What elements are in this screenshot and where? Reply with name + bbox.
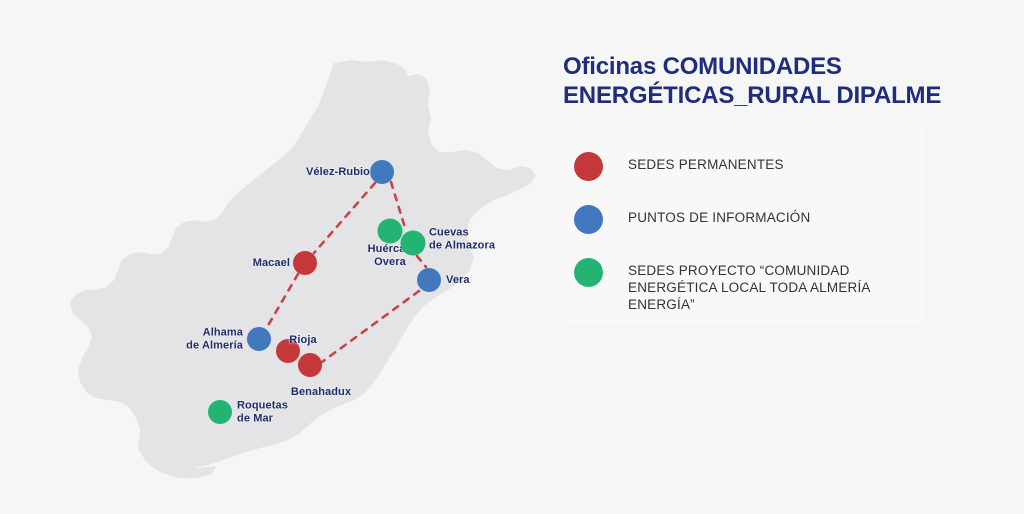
legend-panel: SEDES PERMANENTESPUNTOS DE INFORMACIÓNSE… (562, 128, 925, 325)
legend-item: PUNTOS DE INFORMACIÓN (562, 204, 925, 234)
legend-item-label: SEDES PROYECTO “COMUNIDAD ENERGÉTICA LOC… (628, 257, 871, 313)
map-marker-vera[interactable] (417, 268, 441, 292)
blue-dot-icon (574, 205, 603, 234)
map-label-macael: Macael (253, 257, 290, 270)
map-marker-cuevas-de-almazora[interactable] (401, 231, 426, 256)
map-label-alhama-de-almer-a: Alhama de Almería (186, 327, 243, 352)
map-marker-benahadux[interactable] (298, 353, 322, 377)
legend-item-label: SEDES PERMANENTES (628, 151, 784, 173)
red-dot-icon (574, 152, 603, 181)
page-title: Oficinas COMUNIDADES ENERGÉTICAS_RURAL D… (563, 52, 993, 110)
map-marker-alhama-de-almer-a[interactable] (247, 327, 271, 351)
map-label-cuevas-de-almazora: Cuevas de Almazora (429, 227, 495, 252)
legend-item: SEDES PERMANENTES (562, 151, 925, 181)
map-label-roquetas-de-mar: Roquetas de Mar (237, 400, 288, 425)
page-title-line-2: ENERGÉTICAS_RURAL DIPALME (563, 82, 941, 109)
legend-item-label: PUNTOS DE INFORMACIÓN (628, 204, 810, 226)
map-label-v-lez-rubio: Vélez-Rubio (306, 166, 370, 179)
map-marker-hu-rcal-overa[interactable] (378, 219, 403, 244)
green-dot-icon (574, 258, 603, 287)
map-label-rioja: Rioja (289, 334, 316, 347)
map-marker-roquetas-de-mar[interactable] (208, 400, 232, 424)
legend-item: SEDES PROYECTO “COMUNIDAD ENERGÉTICA LOC… (562, 257, 925, 313)
map-marker-v-lez-rubio[interactable] (370, 160, 394, 184)
map-label-vera: Vera (446, 274, 470, 287)
map-marker-macael[interactable] (293, 251, 317, 275)
map-panel: Vélez-RubioMacaelHuércal- OveraCuevas de… (0, 0, 546, 514)
page-title-line-1: Oficinas COMUNIDADES (563, 53, 842, 80)
infographic-root: Vélez-RubioMacaelHuércal- OveraCuevas de… (0, 0, 1024, 514)
map-label-benahadux: Benahadux (291, 386, 351, 399)
legend-list: SEDES PERMANENTESPUNTOS DE INFORMACIÓNSE… (562, 128, 925, 325)
